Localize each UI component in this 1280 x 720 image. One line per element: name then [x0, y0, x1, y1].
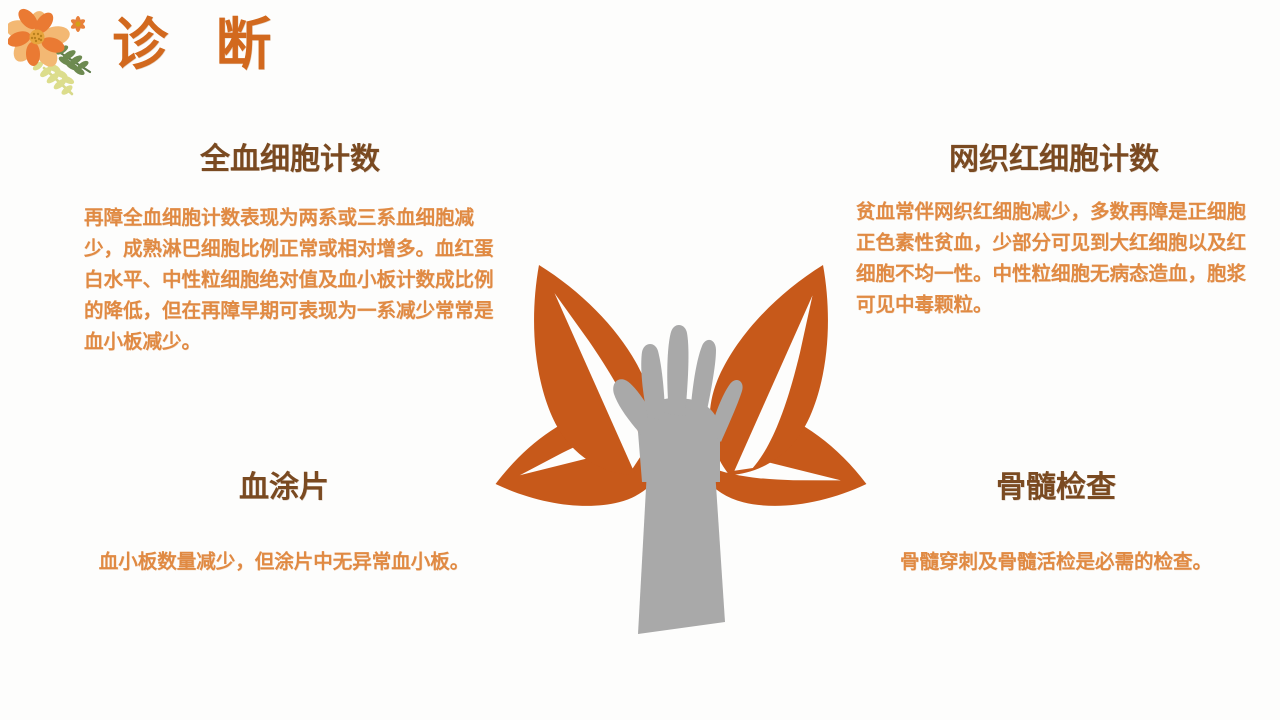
section-cbc-body: 再障全血细胞计数表现为两系或三系血细胞减少，成熟淋巴细胞比例正常或相对增多。血红… — [84, 202, 496, 357]
section-blood-smear: 血涂片 血小板数量减少，但涂片中无异常血小板。 — [64, 468, 504, 577]
section-blood-smear-body: 血小板数量减少，但涂片中无异常血小板。 — [64, 546, 504, 577]
slide-canvas: 诊 断 — [0, 0, 1280, 720]
section-reticulocyte: 网织红细胞计数 贫血常伴网织红细胞减少，多数再障是正细胞正色素性贫血，少部分可见… — [856, 140, 1252, 320]
section-cbc-heading: 全血细胞计数 — [84, 140, 496, 180]
section-cbc: 全血细胞计数 再障全血细胞计数表现为两系或三系血细胞减少，成熟淋巴细胞比例正常或… — [84, 140, 496, 357]
section-reticulocyte-heading: 网织红细胞计数 — [856, 140, 1252, 180]
section-blood-smear-heading: 血涂片 — [64, 468, 504, 508]
section-bone-marrow: 骨髓检查 骨髓穿刺及骨髓活检是必需的检查。 — [836, 468, 1276, 577]
page-title: 诊 断 — [112, 8, 286, 84]
flower-leaves-icon — [8, 6, 104, 98]
section-bone-marrow-body: 骨髓穿刺及骨髓活检是必需的检查。 — [836, 546, 1276, 577]
section-reticulocyte-body: 贫血常伴网织红细胞减少，多数再障是正细胞正色素性贫血，少部分可见到大红细胞以及红… — [856, 196, 1252, 320]
section-bone-marrow-heading: 骨髓检查 — [836, 468, 1276, 508]
